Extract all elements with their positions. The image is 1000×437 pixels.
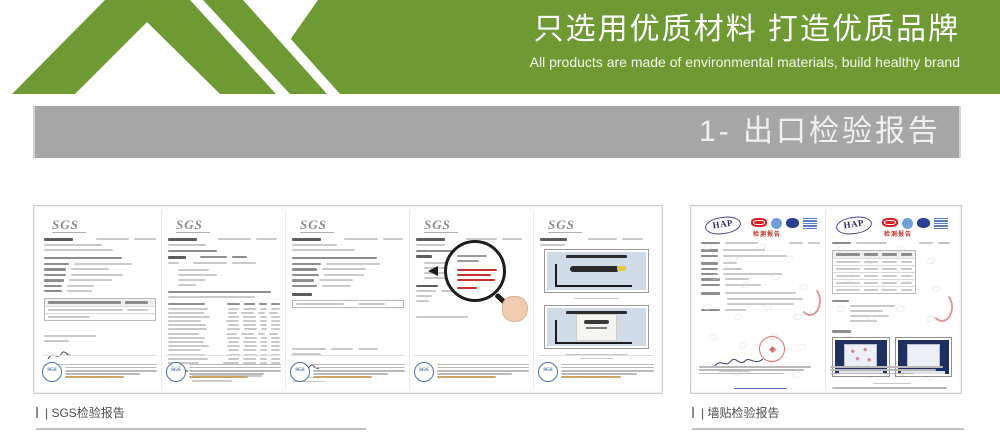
sgs-seal-icon xyxy=(290,362,310,382)
sgs-legal-footer xyxy=(414,355,529,385)
sgs-seal-icon xyxy=(414,362,434,382)
sgs-caption-text: | SGS检验报告 xyxy=(45,406,125,420)
sgs-report-panel[interactable]: SGS xyxy=(33,205,663,394)
sgs-result-table xyxy=(44,298,156,320)
arc-stamp-icon xyxy=(931,292,953,322)
sgs-page-2: SGS xyxy=(162,210,286,389)
sgs-legal-footer xyxy=(166,355,281,385)
hap-results-table xyxy=(832,250,916,293)
header-text-block: 只选用优质材料 打造优质品牌 All products are made of … xyxy=(530,10,960,73)
hand-icon xyxy=(502,296,528,322)
wall-sticker-report-panel[interactable]: HAP 检测报告 xyxy=(690,205,962,394)
sgs-page-5: SGS xyxy=(534,210,658,389)
arc-stamp-icon xyxy=(799,286,821,316)
hap-report-title: 检测报告 xyxy=(753,229,781,238)
caption-divider-right xyxy=(692,428,964,430)
sgs-logo-icon: SGS xyxy=(176,218,280,233)
page-header: 只选用优质材料 打造优质品牌 All products are made of … xyxy=(0,0,1000,96)
section-band: 1- 出口检验报告 xyxy=(33,106,961,158)
cqc-logo-icon xyxy=(751,218,767,227)
sgs-summary-table xyxy=(292,300,404,308)
documents-row: SGS xyxy=(0,205,1000,395)
header-subline-en: All products are made of environmental m… xyxy=(530,51,960,73)
pointer-arrow-icon xyxy=(428,266,438,276)
sgs-logo-icon: SGS xyxy=(424,218,528,233)
magnifier-illustration xyxy=(444,240,530,324)
sgs-page-1: SGS xyxy=(38,210,162,389)
sgs-seal-icon xyxy=(42,362,62,382)
caption-divider-left xyxy=(36,428,366,430)
hap-logo-icon: HAP xyxy=(835,215,873,237)
cqc-logo-icon xyxy=(882,218,898,227)
caption-bar-icon xyxy=(36,407,38,418)
sample-photo-2 xyxy=(544,305,649,349)
standards-logo-icon xyxy=(803,218,817,229)
sgs-seal-icon xyxy=(538,362,558,382)
standards-logo-icon xyxy=(934,218,948,229)
sgs-seal-icon xyxy=(166,362,186,382)
hap-report-title: 检测报告 xyxy=(884,229,912,238)
hap-header: HAP 检测报告 xyxy=(701,216,820,238)
sgs-page-4: SGS xyxy=(410,210,534,389)
hap-legal-footer xyxy=(830,355,953,385)
sgs-logo-icon: SGS xyxy=(548,218,653,233)
csa-logo-icon xyxy=(917,218,930,228)
nickel-logo-icon xyxy=(902,218,913,229)
sgs-legal-footer xyxy=(290,355,405,385)
hap-page-1: HAP 检测报告 xyxy=(695,210,826,389)
wall-sticker-caption-text: | 墙贴检验报告 xyxy=(701,406,779,420)
hap-logo-icon: HAP xyxy=(704,215,742,237)
csa-logo-icon xyxy=(786,218,799,228)
caption-bar-icon xyxy=(692,407,694,418)
wall-sticker-report-caption: | 墙贴检验报告 xyxy=(692,404,779,422)
sgs-logo-icon: SGS xyxy=(300,218,404,233)
sgs-legal-footer xyxy=(42,355,157,385)
hap-legal-footer xyxy=(699,355,821,385)
hap-page-2: HAP 检测报告 xyxy=(826,210,957,389)
sample-photo-1 xyxy=(544,249,649,293)
nickel-logo-icon xyxy=(771,218,782,229)
header-headline-cn: 只选用优质材料 打造优质品牌 xyxy=(530,10,960,50)
hap-header: HAP 检测报告 xyxy=(832,216,952,238)
sgs-logo-icon: SGS xyxy=(52,218,156,233)
section-band-label: 1- 出口检验报告 xyxy=(699,110,941,154)
sgs-report-caption: | SGS检验报告 xyxy=(36,404,125,422)
sgs-legal-footer xyxy=(538,355,654,385)
sgs-page-3: SGS xyxy=(286,210,410,389)
